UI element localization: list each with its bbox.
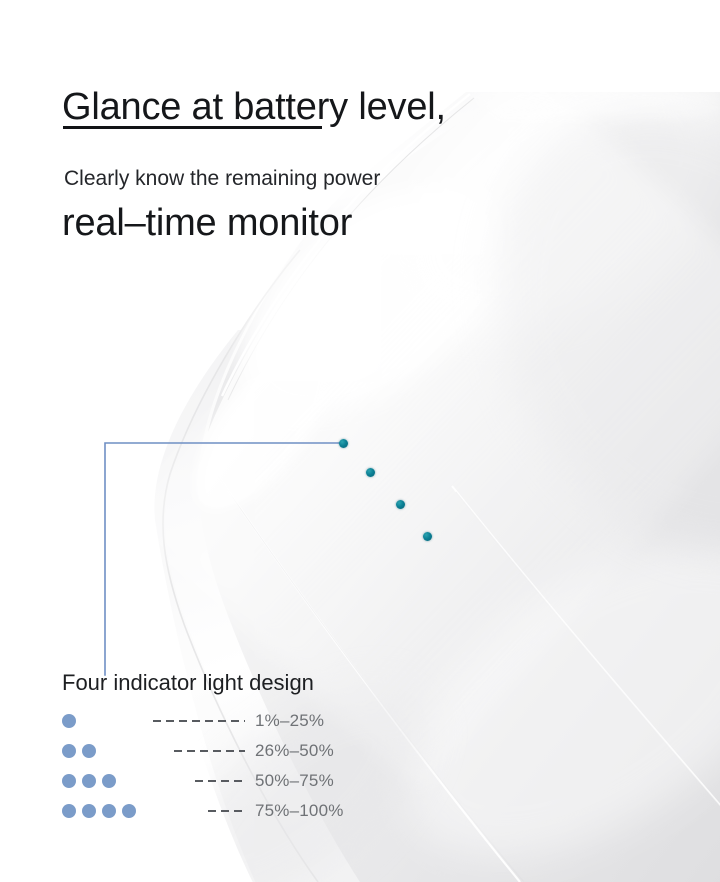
title-underline: [63, 126, 322, 129]
legend-row: 26%–50%: [62, 736, 344, 766]
legend-dot: [62, 774, 76, 788]
indicator-light-3: [396, 500, 405, 509]
indicator-light-1: [339, 439, 348, 448]
legend-dot-group: [62, 744, 150, 758]
headline-line-2: real–time monitor: [62, 194, 352, 252]
legend-dot: [62, 714, 76, 728]
legend-range-label: 75%–100%: [255, 801, 344, 821]
legend-dash-wrap: [150, 744, 255, 758]
legend-dot: [82, 774, 96, 788]
legend-dot: [82, 804, 96, 818]
indicator-legend: Four indicator light design 1%–25%26%–50…: [62, 668, 344, 826]
legend-rows: 1%–25%26%–50%50%–75%75%–100%: [62, 706, 344, 826]
indicator-light-2: [366, 468, 375, 477]
legend-dash: [174, 750, 245, 752]
legend-dot-group: [62, 774, 150, 788]
legend-range-label: 50%–75%: [255, 771, 334, 791]
legend-dash-wrap: [150, 804, 255, 818]
callout-leader-line: [100, 430, 360, 680]
legend-dot: [62, 744, 76, 758]
legend-dash-wrap: [150, 774, 255, 788]
legend-range-label: 1%–25%: [255, 711, 324, 731]
legend-title: Four indicator light design: [62, 668, 344, 698]
legend-dash-wrap: [150, 714, 255, 728]
legend-dot-group: [62, 804, 150, 818]
legend-dot: [102, 804, 116, 818]
legend-dot: [82, 744, 96, 758]
legend-range-label: 26%–50%: [255, 741, 334, 761]
legend-dot: [102, 774, 116, 788]
legend-dash: [208, 810, 245, 812]
legend-dash: [153, 720, 245, 722]
legend-dash: [195, 780, 245, 782]
legend-dot-group: [62, 714, 150, 728]
page-subtitle: Clearly know the remaining power: [64, 164, 380, 194]
legend-row: 1%–25%: [62, 706, 344, 736]
legend-dot: [62, 804, 76, 818]
legend-dot: [122, 804, 136, 818]
page-title: Glance at battery level, real–time monit…: [62, 20, 446, 252]
indicator-light-4: [423, 532, 432, 541]
legend-row: 50%–75%: [62, 766, 344, 796]
legend-row: 75%–100%: [62, 796, 344, 826]
